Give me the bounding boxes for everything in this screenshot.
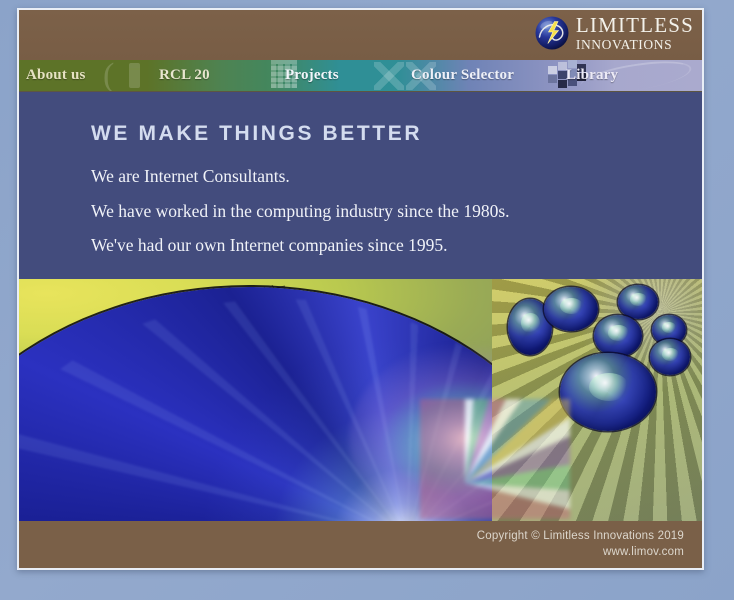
website-url[interactable]: www.limov.com: [603, 546, 684, 558]
hero-line-2: We have worked in the computing industry…: [19, 203, 702, 221]
lightning-sphere-icon: [534, 15, 570, 51]
site-footer: Copyright © Limitless Innovations 2019 w…: [19, 521, 702, 569]
nav-item-rcl-20[interactable]: RCL 20: [147, 60, 272, 91]
nav-item-colour-selector-label: Colour Selector: [397, 67, 514, 84]
nav-item-projects[interactable]: Projects: [272, 60, 397, 91]
nav-item-about-us[interactable]: About us (: [19, 60, 147, 91]
brand-name-line2: INNOVATIONS: [576, 38, 694, 52]
decorative-paren-icon: (: [103, 62, 114, 90]
decorative-info-bar-icon: [129, 63, 140, 88]
artwork-sphere: [594, 315, 642, 357]
hero-line-3: We've had our own Internet companies sin…: [19, 237, 702, 255]
brand-name-line1: LIMITLESS: [576, 15, 694, 36]
nav-item-rcl-20-label: RCL 20: [147, 67, 210, 84]
page-background: LIMITLESS INNOVATIONS About us ( RCL 20 …: [0, 0, 734, 600]
artwork-sphere: [544, 287, 598, 331]
brand-wordmark: LIMITLESS INNOVATIONS: [576, 15, 694, 52]
artwork-sphere: [560, 353, 656, 431]
artwork-sphere: [618, 285, 658, 319]
nav-item-about-us-label: About us: [19, 67, 86, 84]
fractal-artwork-image: [19, 279, 702, 521]
brand-logo[interactable]: LIMITLESS INNOVATIONS: [534, 15, 694, 52]
page-title: WE MAKE THINGS BETTER: [19, 122, 702, 146]
artwork-colour-burst: [420, 399, 570, 519]
copyright-text: Copyright © Limitless Innovations 2019: [477, 530, 684, 542]
nav-item-colour-selector[interactable]: Colour Selector: [397, 60, 557, 91]
nav-item-library[interactable]: Library: [557, 60, 702, 91]
site-content-card: LIMITLESS INNOVATIONS About us ( RCL 20 …: [17, 8, 704, 570]
hero-panel: WE MAKE THINGS BETTER We are Internet Co…: [19, 92, 702, 279]
site-header: LIMITLESS INNOVATIONS: [19, 10, 702, 60]
hero-line-1: We are Internet Consultants.: [19, 168, 702, 186]
nav-item-library-label: Library: [557, 67, 618, 84]
main-navigation[interactable]: About us ( RCL 20 Projects Colour Select…: [19, 60, 702, 92]
nav-item-projects-label: Projects: [272, 67, 339, 84]
artwork-sphere: [650, 339, 690, 375]
